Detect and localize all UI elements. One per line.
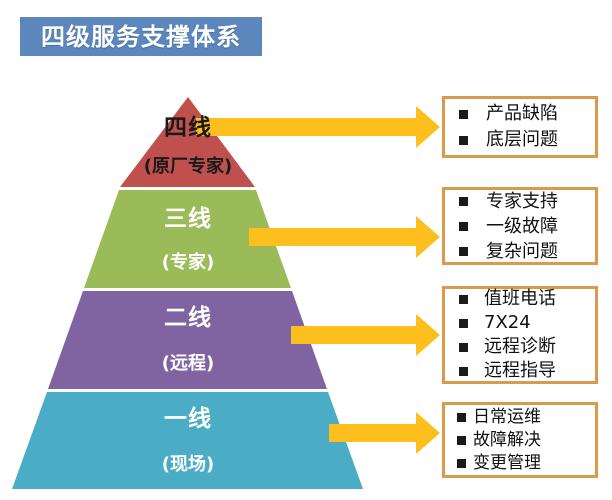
square-bullet-icon [459, 222, 468, 231]
list-item-label: 远程指导 [484, 359, 556, 383]
list-item: 故障解决 [457, 429, 595, 452]
callout-box-tier-4: 产品缺陷 底层问题 [442, 96, 598, 158]
list-item: 复杂问题 [459, 239, 595, 264]
list-item: 日常运维 [457, 406, 595, 429]
callout-list: 专家支持 一级故障 复杂问题 [445, 189, 595, 264]
list-item-label: 7X24 [484, 311, 531, 335]
list-item: 产品缺陷 [459, 101, 595, 127]
square-bullet-icon [459, 247, 468, 256]
square-bullet-icon [459, 136, 468, 145]
square-bullet-icon [457, 413, 466, 422]
callout-list: 值班电话 7X24 远程诊断 远程指导 [445, 287, 595, 383]
list-item: 7X24 [459, 311, 595, 335]
list-item-label: 值班电话 [484, 287, 556, 311]
list-item-label: 远程诊断 [484, 335, 556, 359]
list-item-label: 故障解决 [473, 429, 541, 452]
list-item-label: 变更管理 [473, 452, 541, 475]
list-item-label: 产品缺陷 [486, 101, 558, 127]
square-bullet-icon [457, 436, 466, 445]
callout-list: 日常运维 故障解决 变更管理 [445, 406, 595, 475]
pyramid-tier-4-shape [120, 97, 255, 187]
list-item-label: 复杂问题 [486, 239, 558, 264]
square-bullet-icon [459, 295, 468, 304]
arrow-tier-2 [291, 314, 440, 356]
list-item: 专家支持 [459, 189, 595, 214]
square-bullet-icon [459, 343, 468, 352]
pyramid-tier-1-shape [12, 392, 363, 489]
list-item: 底层问题 [459, 127, 595, 153]
square-bullet-icon [459, 197, 468, 206]
pyramid-tier-2-shape [48, 291, 327, 389]
square-bullet-icon [457, 459, 466, 468]
square-bullet-icon [459, 319, 468, 328]
callout-box-tier-1: 日常运维 故障解决 变更管理 [442, 402, 598, 478]
list-item: 变更管理 [457, 452, 595, 475]
diagram-canvas: 四级服务支撑体系 四线 (原厂专家) 三线 (专家) 二线 (远程) 一线 (现… [0, 0, 612, 500]
list-item: 值班电话 [459, 287, 595, 311]
callout-list: 产品缺陷 底层问题 [445, 101, 595, 153]
callout-box-tier-2: 值班电话 7X24 远程诊断 远程指导 [442, 286, 598, 384]
list-item: 远程指导 [459, 359, 595, 383]
callout-box-tier-3: 专家支持 一级故障 复杂问题 [442, 187, 598, 265]
square-bullet-icon [459, 110, 468, 119]
list-item: 一级故障 [459, 214, 595, 239]
list-item: 远程诊断 [459, 335, 595, 359]
square-bullet-icon [459, 367, 468, 376]
list-item-label: 底层问题 [486, 127, 558, 153]
list-item-label: 专家支持 [486, 189, 558, 214]
list-item-label: 日常运维 [473, 406, 541, 429]
arrow-tier-4 [196, 106, 440, 148]
list-item-label: 一级故障 [486, 214, 558, 239]
